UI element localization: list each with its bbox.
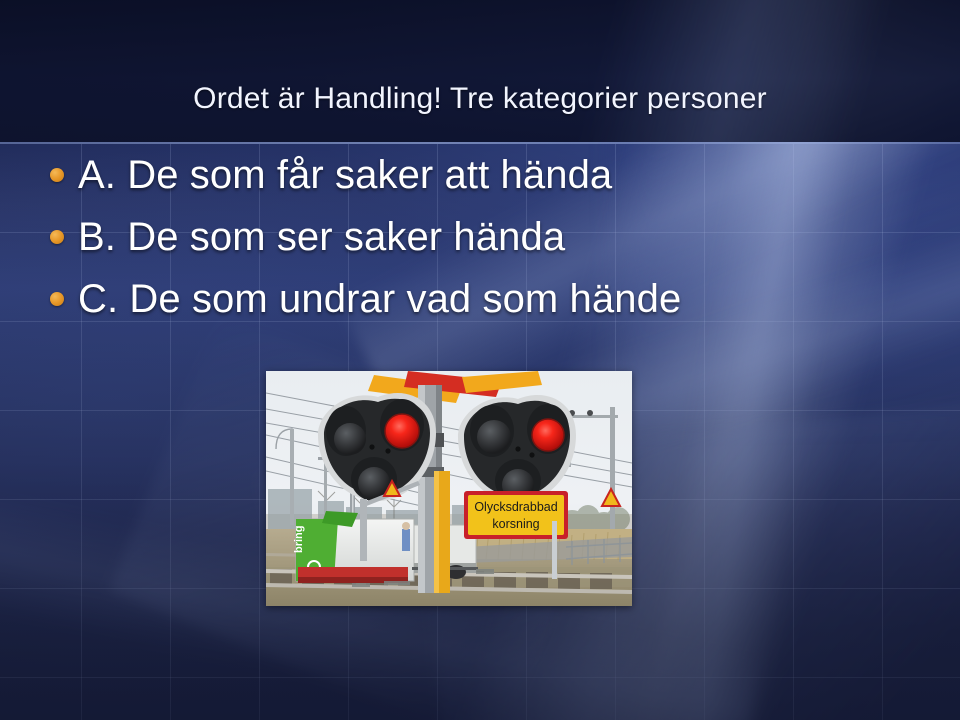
bullet-dot-icon (50, 168, 64, 182)
page-title: Ordet är Handling! Tre kategorier person… (0, 82, 960, 116)
list-item-label: B. De som ser saker hända (78, 217, 565, 257)
list-item: B. De som ser saker hända (0, 206, 960, 268)
title-band-sheen (550, 0, 910, 142)
bullet-list: A. De som får saker att hända B. De som … (0, 144, 960, 330)
slide-canvas: Ordet är Handling! Tre kategorier person… (0, 0, 960, 720)
bullet-dot-icon (50, 292, 64, 306)
list-item: C. De som undrar vad som hände (0, 268, 960, 330)
bullet-dot-icon (50, 230, 64, 244)
list-item-label: C. De som undrar vad som hände (78, 279, 681, 319)
list-item: A. De som får saker att hända (0, 144, 960, 206)
railway-crossing-photo: bring (266, 371, 632, 606)
list-item-label: A. De som får saker att hända (78, 155, 612, 195)
title-band (0, 0, 960, 142)
